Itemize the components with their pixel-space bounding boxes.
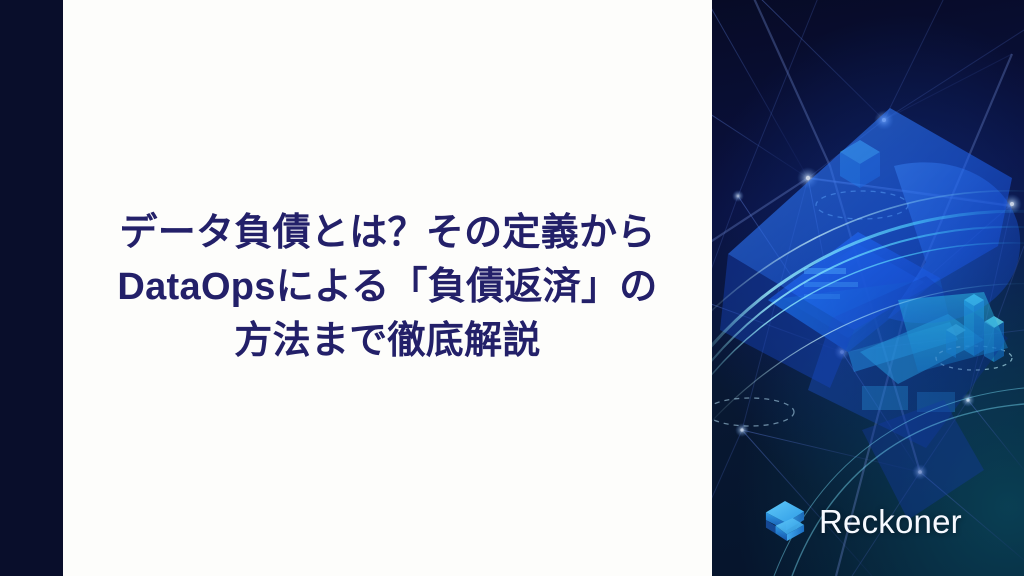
page-title: データ負債とは？その定義から DataOpsによる「負債返済」の 方法まで徹底解… xyxy=(78,207,698,369)
left-accent-strip xyxy=(0,0,63,576)
brand-wordmark: Reckoner xyxy=(819,505,962,538)
title-line-2: DataOpsによる「負債返済」の xyxy=(78,261,698,315)
title-content-area: データ負債とは？その定義から DataOpsによる「負債返済」の 方法まで徹底解… xyxy=(63,0,712,576)
title-line-1: データ負債とは？その定義から xyxy=(78,207,698,261)
title-line-3: 方法まで徹底解説 xyxy=(78,315,698,369)
brand-lockup: Reckoner xyxy=(764,499,962,543)
slide-root: データ負債とは？その定義から DataOpsによる「負債返済」の 方法まで徹底解… xyxy=(0,0,1024,576)
glowing-light-arcs-icon xyxy=(712,0,1024,576)
reckoner-logo-mark-icon xyxy=(764,499,806,543)
tech-background-panel: Reckoner xyxy=(712,0,1024,576)
